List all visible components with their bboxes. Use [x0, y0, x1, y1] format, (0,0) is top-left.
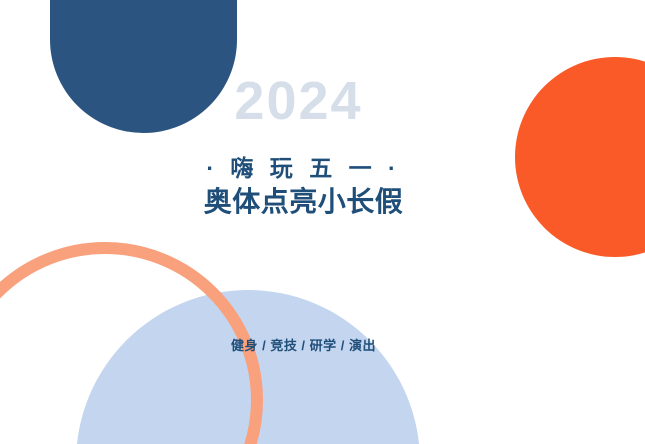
headline-top-line: · 嗨 玩 五 一 ·: [0, 157, 626, 180]
year-watermark: 2024: [0, 74, 621, 128]
headline-main-line: 奥体点亮小长假: [0, 188, 626, 216]
poster-canvas: 2024 · 嗨 玩 五 一 · 奥体点亮小长假 健身 / 竞技 / 研学 / …: [0, 0, 645, 444]
text-layer: 2024 · 嗨 玩 五 一 · 奥体点亮小长假 健身 / 竞技 / 研学 / …: [0, 0, 645, 444]
category-list: 健身 / 竞技 / 研学 / 演出: [0, 339, 626, 352]
